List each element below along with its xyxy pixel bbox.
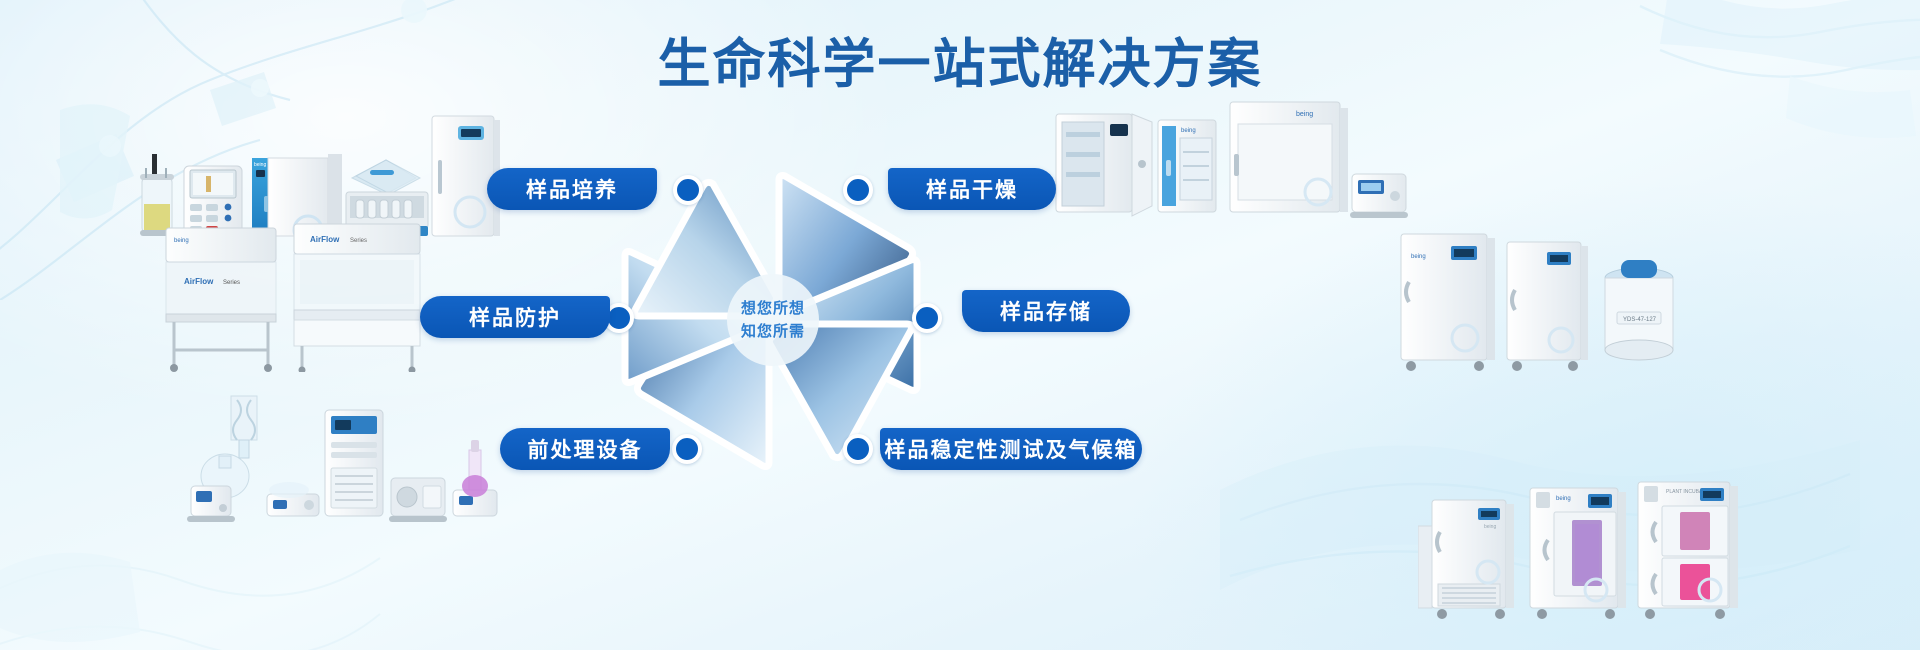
wheel-center-text: 想您所想 知您所需 xyxy=(741,297,805,344)
label-pill-sample-protection[interactable]: 样品防护 xyxy=(420,296,610,338)
label-pill-stability-climate[interactable]: 样品稳定性测试及气候箱 xyxy=(880,428,1142,470)
svg-text:being: being xyxy=(1411,254,1426,260)
svg-text:being: being xyxy=(1296,111,1313,118)
ultra-low-freezer: being xyxy=(1401,234,1495,371)
climate-chamber-purple-window: being xyxy=(1530,488,1626,619)
label-pill-pretreatment[interactable]: 前处理设备 xyxy=(500,428,670,470)
equipment-cluster-sample-drying: being being xyxy=(1050,100,1410,230)
equipment-cluster-sample-culture: being xyxy=(140,108,500,238)
label-pill-sample-drying[interactable]: 样品干燥 xyxy=(888,168,1056,210)
svg-text:being: being xyxy=(1484,524,1496,530)
banner-stage: 生命科学一站式解决方案 xyxy=(0,0,1920,650)
svg-text:being: being xyxy=(1181,128,1196,134)
svg-text:being: being xyxy=(1556,496,1571,502)
connector-dot-sample-culture xyxy=(673,175,703,205)
benchtop-hotplate-dryer xyxy=(1350,174,1408,218)
wheel-center-line-1: 想您所想 xyxy=(741,297,805,320)
svg-text:Series: Series xyxy=(350,238,367,244)
svg-text:Series: Series xyxy=(223,280,240,286)
vacuum-drying-oven xyxy=(1056,114,1152,216)
equipment-cluster-pretreatment xyxy=(185,390,505,530)
large-drying-cabinet: being xyxy=(1230,102,1348,212)
connector-dot-sample-drying xyxy=(843,175,873,205)
svg-text:AirFlow: AirFlow xyxy=(184,277,214,286)
wheel-center-line-2: 知您所需 xyxy=(741,320,805,343)
connector-dot-pretreatment xyxy=(672,434,702,464)
equipment-cluster-stability-climate: being being xyxy=(1418,478,1758,628)
stability-test-chamber: being xyxy=(1432,500,1514,619)
equipment-cluster-sample-protection: being AirFlow Series AirFlow Series xyxy=(160,222,440,372)
vacuum-pump xyxy=(389,478,447,522)
biosafety-cabinet-class-ii: AirFlow Series xyxy=(294,224,420,372)
lab-refrigerator xyxy=(1507,242,1588,371)
label-pill-sample-storage[interactable]: 样品存储 xyxy=(962,290,1130,332)
label-pill-sample-culture[interactable]: 样品培养 xyxy=(487,168,657,210)
svg-text:YDS-47-127: YDS-47-127 xyxy=(1623,317,1657,323)
equipment-cluster-sample-storage: being YDS-47-12 xyxy=(1395,228,1695,378)
plant-growth-chamber-pink-window: PLANT INCUBATOR xyxy=(1638,482,1738,619)
small-climate-chamber xyxy=(1418,526,1432,608)
svg-text:AirFlow: AirFlow xyxy=(310,235,340,244)
magnetic-stirrer xyxy=(267,482,319,516)
chiller-circulator xyxy=(325,410,383,516)
rotary-evaporator xyxy=(187,396,257,522)
purple-flask-heater xyxy=(453,440,497,516)
svg-text:being: being xyxy=(174,238,189,244)
connector-dot-stability-climate xyxy=(843,434,873,464)
page-title: 生命科学一站式解决方案 xyxy=(0,36,1920,94)
liquid-nitrogen-dewar: YDS-47-127 xyxy=(1605,260,1673,360)
svg-text:being: being xyxy=(254,162,266,168)
connector-dot-sample-storage xyxy=(912,303,942,333)
blue-door-drying-oven: being xyxy=(1158,120,1216,212)
laminar-flow-hood-stand: being AirFlow Series xyxy=(166,228,276,372)
